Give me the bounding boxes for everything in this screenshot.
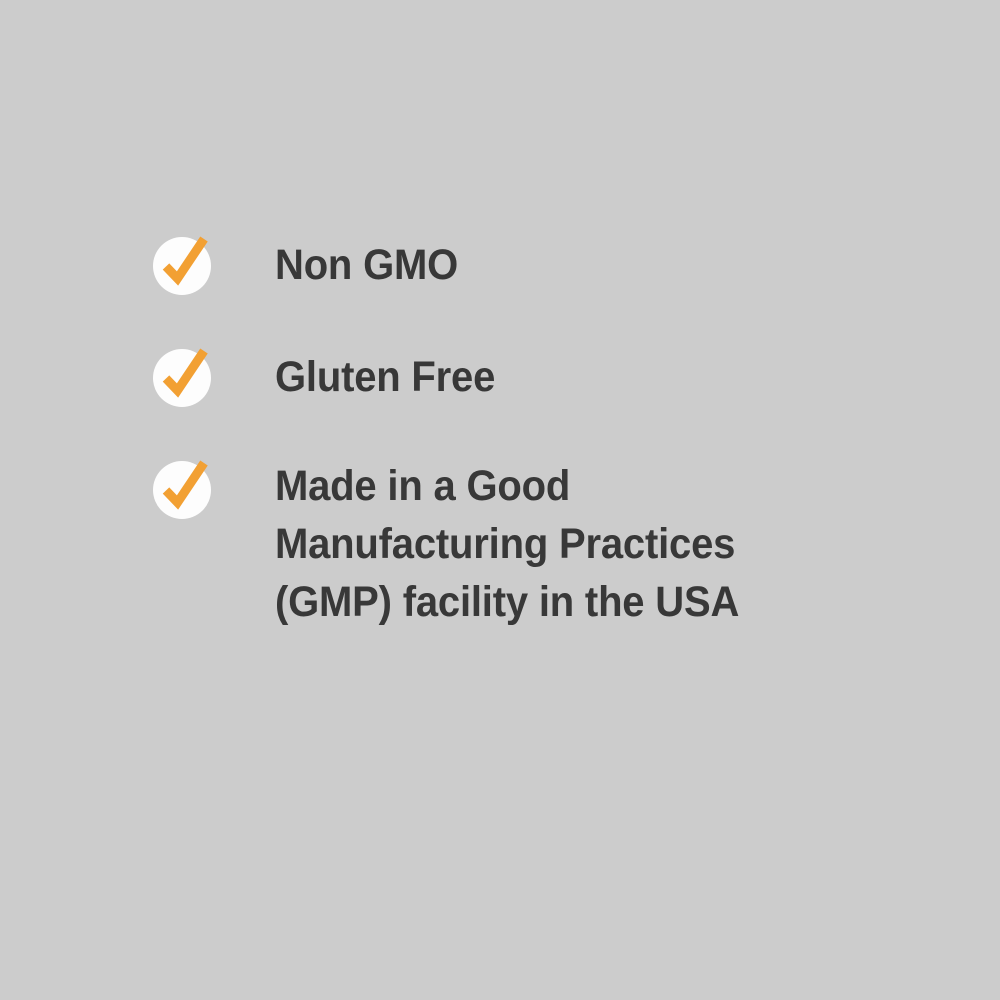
feature-label: Gluten Free [275, 348, 867, 406]
list-item: Non GMO [152, 232, 912, 295]
feature-label: Non GMO [275, 236, 867, 294]
feature-panel: Non GMO Gluten Free Made in a Good Manuf… [0, 0, 1000, 1000]
list-item: Made in a Good Manufacturing Practices (… [152, 456, 912, 631]
orange-check-circle-icon [152, 343, 216, 407]
feature-list: Non GMO Gluten Free Made in a Good Manuf… [152, 232, 912, 680]
list-item: Gluten Free [152, 344, 912, 407]
orange-check-circle-icon [152, 455, 216, 519]
orange-check-circle-icon [152, 231, 216, 295]
feature-label: Made in a Good Manufacturing Practices (… [275, 457, 867, 631]
